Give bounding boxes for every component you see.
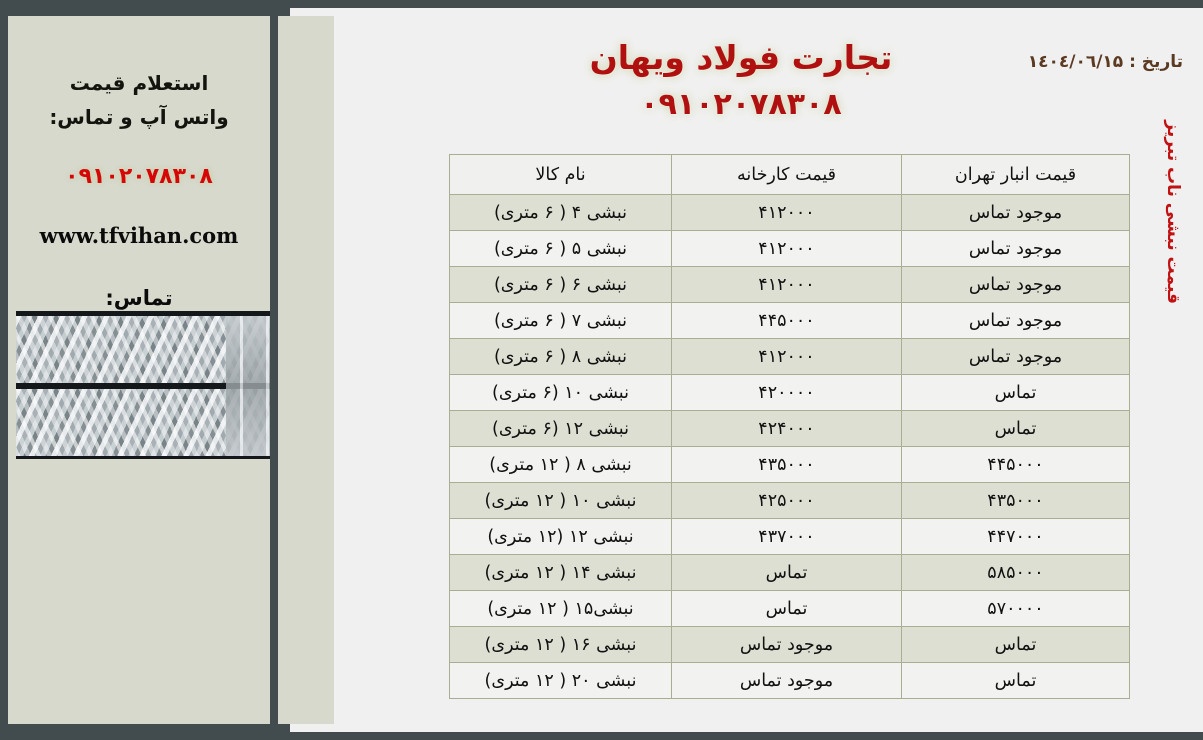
cell-warehouse-price: ۴۴۵۰۰۰ [902,447,1130,483]
sidebar-secondary-strip [278,16,334,724]
cell-factory-price: ۴۴۵۰۰۰ [672,303,902,339]
cell-warehouse-price: موجود تماس [902,267,1130,303]
table-row[interactable]: تماسموجود تماسنبشی ۱۶ ( ۱۲ متری) [450,627,1130,663]
column-header-warehouse-price[interactable]: قیمت انبار تهران [902,155,1130,195]
cell-product-name: نبشی ۵ ( ۶ متری) [450,231,672,267]
sidebar-panel: استعلام قیمت واتس آپ و تماس: ۰۹۱۰۲۰۷۸۳۰۸… [8,16,270,724]
table-row[interactable]: ۴۳۵۰۰۰۴۲۵۰۰۰نبشی ۱۰ ( ۱۲ متری) [450,483,1130,519]
cell-warehouse-price: تماس [902,663,1130,699]
table-header: قیمت انبار تهران قیمت کارخانه نام کالا [450,155,1130,195]
table-row[interactable]: موجود تماس۴۱۲۰۰۰نبشی ۸ ( ۶ متری) [450,339,1130,375]
sidebar-heading-line2: واتس آپ و تماس: [8,100,270,134]
column-header-factory-price[interactable]: قیمت کارخانه [672,155,902,195]
cell-factory-price: موجود تماس [672,663,902,699]
table-row[interactable]: موجود تماس۴۴۵۰۰۰نبشی ۷ ( ۶ متری) [450,303,1130,339]
sidebar-website-link[interactable]: www.tfvihan.com [8,223,270,248]
cell-factory-price: ۴۲۴۰۰۰ [672,411,902,447]
cell-product-name: نبشی ۱۲ (۶ متری) [450,411,672,447]
table-row[interactable]: موجود تماس۴۱۲۰۰۰نبشی ۴ ( ۶ متری) [450,195,1130,231]
cell-factory-price: تماس [672,555,902,591]
table-row[interactable]: ۴۴۵۰۰۰۴۳۵۰۰۰نبشی ۸ ( ۱۲ متری) [450,447,1130,483]
cell-factory-price: ۴۱۲۰۰۰ [672,267,902,303]
sidebar: استعلام قیمت واتس آپ و تماس: ۰۹۱۰۲۰۷۸۳۰۸… [0,8,290,732]
cell-factory-price: ۴۲۰۰۰۰ [672,375,902,411]
page-title: تجارت فولاد ویهان [334,38,1148,77]
header-phone-number[interactable]: ۰۹۱۰۲۰۷۸۳۰۸ [334,87,1148,122]
table-header-row: قیمت انبار تهران قیمت کارخانه نام کالا [450,155,1130,195]
title-area: تجارت فولاد ویهان ۰۹۱۰۲۰۷۸۳۰۸ [334,38,1203,122]
cell-warehouse-price: موجود تماس [902,303,1130,339]
cell-factory-price: موجود تماس [672,627,902,663]
price-table-container: قیمت انبار تهران قیمت کارخانه نام کالا م… [450,154,1130,699]
cell-factory-price: ۴۱۲۰۰۰ [672,339,902,375]
cell-warehouse-price: تماس [902,375,1130,411]
cell-product-name: نبشی ۸ ( ۱۲ متری) [450,447,672,483]
cell-product-name: نبشی ۱۶ ( ۱۲ متری) [450,627,672,663]
photo-edge-bottom [16,456,270,459]
sidebar-contact-label: تماس: [8,286,270,310]
table-row[interactable]: تماس۴۲۴۰۰۰نبشی ۱۲ (۶ متری) [450,411,1130,447]
table-row[interactable]: موجود تماس۴۱۲۰۰۰نبشی ۵ ( ۶ متری) [450,231,1130,267]
cell-product-name: نبشی۱۵ ( ۱۲ متری) [450,591,672,627]
photo-edge-top [16,311,270,316]
column-header-product-name[interactable]: نام کالا [450,155,672,195]
steel-angle-bars-photo [16,311,270,459]
cell-product-name: نبشی ۸ ( ۶ متری) [450,339,672,375]
cell-factory-price: تماس [672,591,902,627]
cell-warehouse-price: ۵۸۵۰۰۰ [902,555,1130,591]
photo-bundle-stack [226,311,270,459]
cell-product-name: نبشی ۴ ( ۶ متری) [450,195,672,231]
cell-factory-price: ۴۳۵۰۰۰ [672,447,902,483]
cell-warehouse-price: ۵۷۰۰۰۰ [902,591,1130,627]
cell-product-name: نبشی ۶ ( ۶ متری) [450,267,672,303]
price-table: قیمت انبار تهران قیمت کارخانه نام کالا م… [449,154,1130,699]
sidebar-heading: استعلام قیمت واتس آپ و تماس: [8,66,270,134]
cell-product-name: نبشی ۱۰ (۶ متری) [450,375,672,411]
sidebar-mobile-number[interactable]: ۰۹۱۰۲۰۷۸۳۰۸ [8,164,270,189]
cell-factory-price: ۴۲۵۰۰۰ [672,483,902,519]
photo-strap [266,311,269,459]
cell-factory-price: ۴۱۲۰۰۰ [672,195,902,231]
cell-warehouse-price: موجود تماس [902,231,1130,267]
table-body: موجود تماس۴۱۲۰۰۰نبشی ۴ ( ۶ متری)موجود تم… [450,195,1130,699]
table-row[interactable]: موجود تماس۴۱۲۰۰۰نبشی ۶ ( ۶ متری) [450,267,1130,303]
cell-factory-price: ۴۱۲۰۰۰ [672,231,902,267]
cell-warehouse-price: ۴۴۷۰۰۰ [902,519,1130,555]
table-row[interactable]: ۴۴۷۰۰۰۴۳۷۰۰۰نبشی ۱۲ (۱۲ متری) [450,519,1130,555]
sidebar-heading-line1: استعلام قیمت [8,66,270,100]
cell-factory-price: ۴۳۷۰۰۰ [672,519,902,555]
cell-product-name: نبشی ۱۲ (۱۲ متری) [450,519,672,555]
cell-warehouse-price: تماس [902,411,1130,447]
vertical-side-note-text: قیمت نبشی ناب تبریز [1163,120,1183,304]
cell-warehouse-price: موجود تماس [902,195,1130,231]
cell-warehouse-price: ۴۳۵۰۰۰ [902,483,1130,519]
cell-product-name: نبشی ۱۰ ( ۱۲ متری) [450,483,672,519]
table-row[interactable]: تماس۴۲۰۰۰۰نبشی ۱۰ (۶ متری) [450,375,1130,411]
cell-product-name: نبشی ۱۴ ( ۱۲ متری) [450,555,672,591]
table-row[interactable]: ۵۸۵۰۰۰تماسنبشی ۱۴ ( ۱۲ متری) [450,555,1130,591]
main-content: تاریخ : ۱٤۰٤/۰٦/۱۵ تجارت فولاد ویهان ۰۹۱… [334,16,1203,724]
cell-warehouse-price: موجود تماس [902,339,1130,375]
cell-product-name: نبشی ۲۰ ( ۱۲ متری) [450,663,672,699]
page-root: استعلام قیمت واتس آپ و تماس: ۰۹۱۰۲۰۷۸۳۰۸… [0,0,1203,740]
photo-strap [240,311,243,459]
cell-warehouse-price: تماس [902,627,1130,663]
cell-product-name: نبشی ۷ ( ۶ متری) [450,303,672,339]
vertical-side-note: قیمت نبشی ناب تبریز [1157,304,1197,514]
table-row[interactable]: ۵۷۰۰۰۰تماسنبشی۱۵ ( ۱۲ متری) [450,591,1130,627]
table-row[interactable]: تماسموجود تماسنبشی ۲۰ ( ۱۲ متری) [450,663,1130,699]
